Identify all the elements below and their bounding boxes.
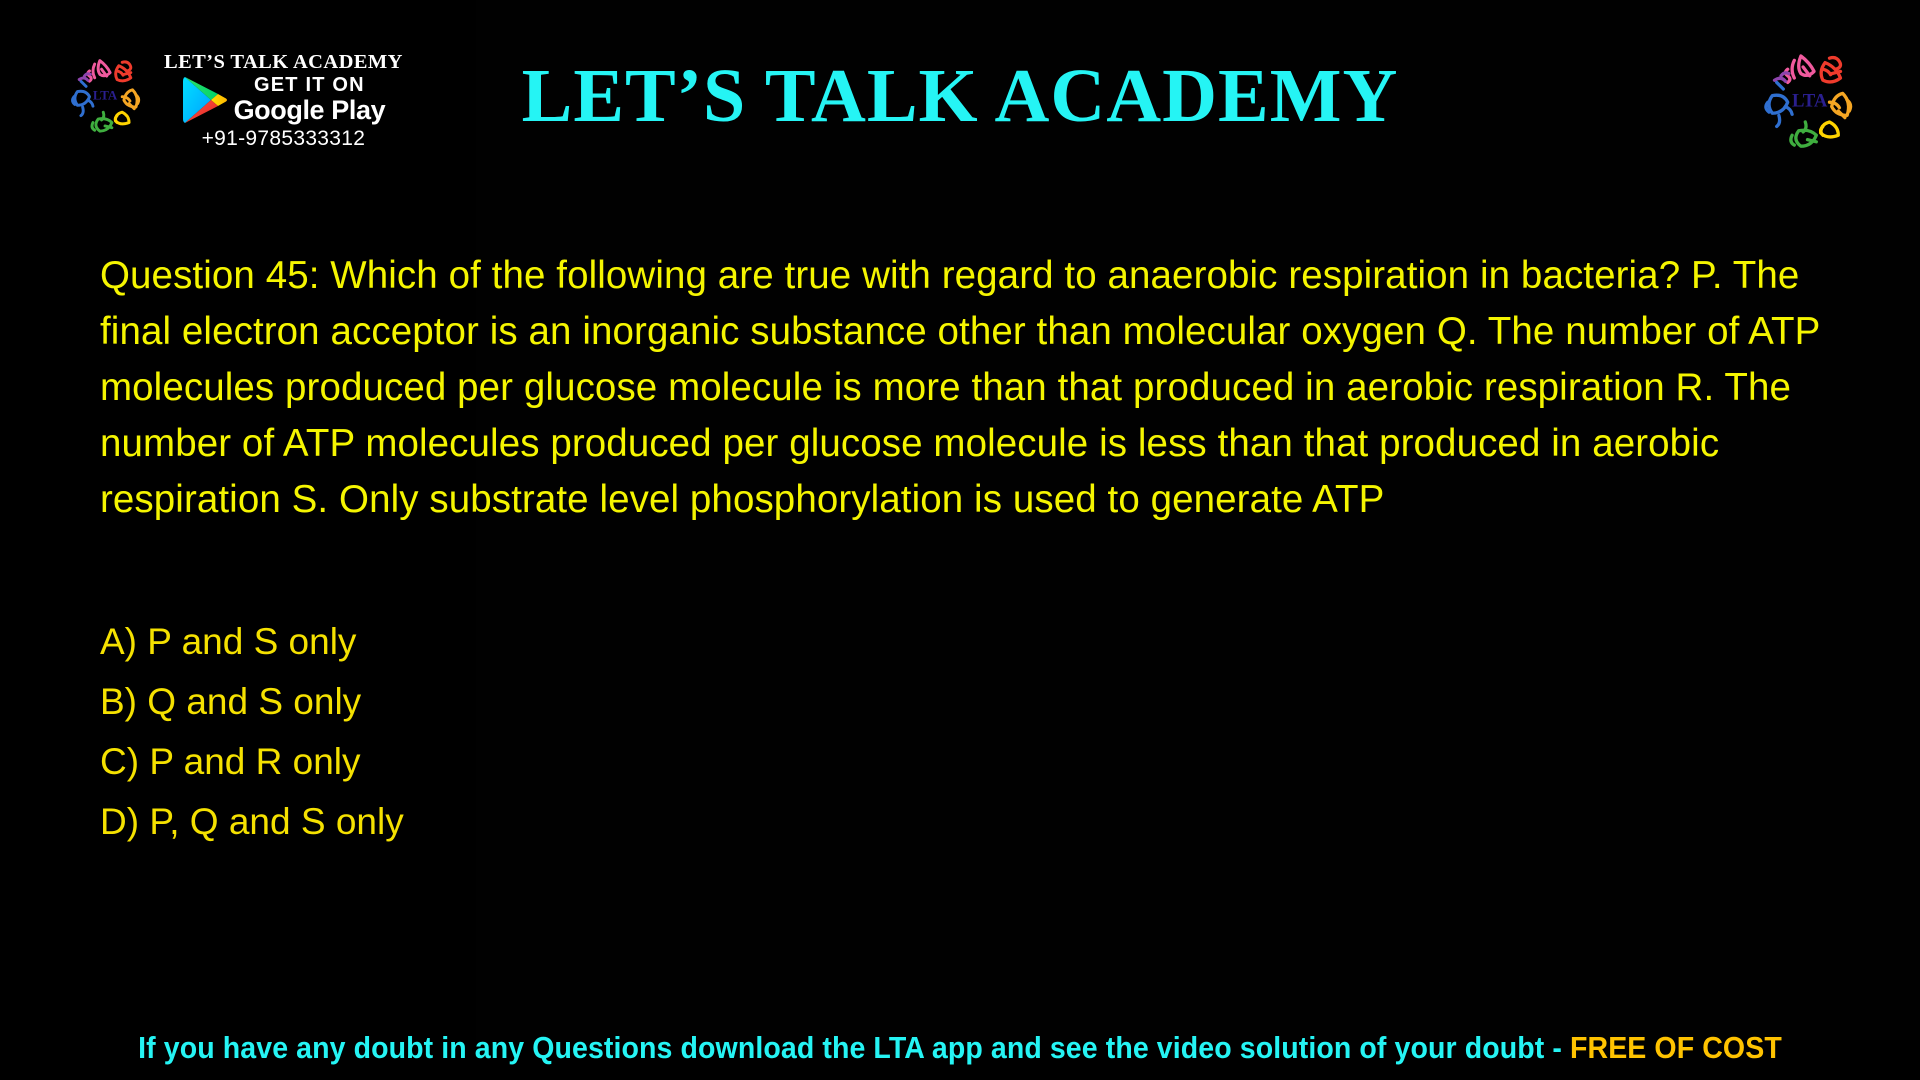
lta-protein-logo-icon: LTA — [1750, 45, 1865, 155]
footer-text-highlight: FREE OF COST — [1570, 1030, 1782, 1065]
question-text: Question 45: Which of the following are … — [100, 248, 1840, 528]
answer-options-list: A) P and S only B) Q and S only C) P and… — [100, 612, 1300, 852]
slide-header: LTA LET’S TALK ACADEMY — [0, 0, 1920, 190]
option-a[interactable]: A) P and S only — [100, 612, 1300, 672]
footer-promo-banner: If you have any doubt in any Questions d… — [77, 1030, 1843, 1066]
slide-root: LTA LET’S TALK ACADEMY — [0, 0, 1920, 1080]
option-d[interactable]: D) P, Q and S only — [100, 792, 1300, 852]
logo-center-label: LTA — [1792, 91, 1828, 112]
option-c[interactable]: C) P and R only — [100, 732, 1300, 792]
option-b[interactable]: B) Q and S only — [100, 672, 1300, 732]
page-title: LET’S TALK ACADEMY — [0, 58, 1920, 134]
footer-text-primary: If you have any doubt in any Questions d… — [138, 1030, 1570, 1065]
